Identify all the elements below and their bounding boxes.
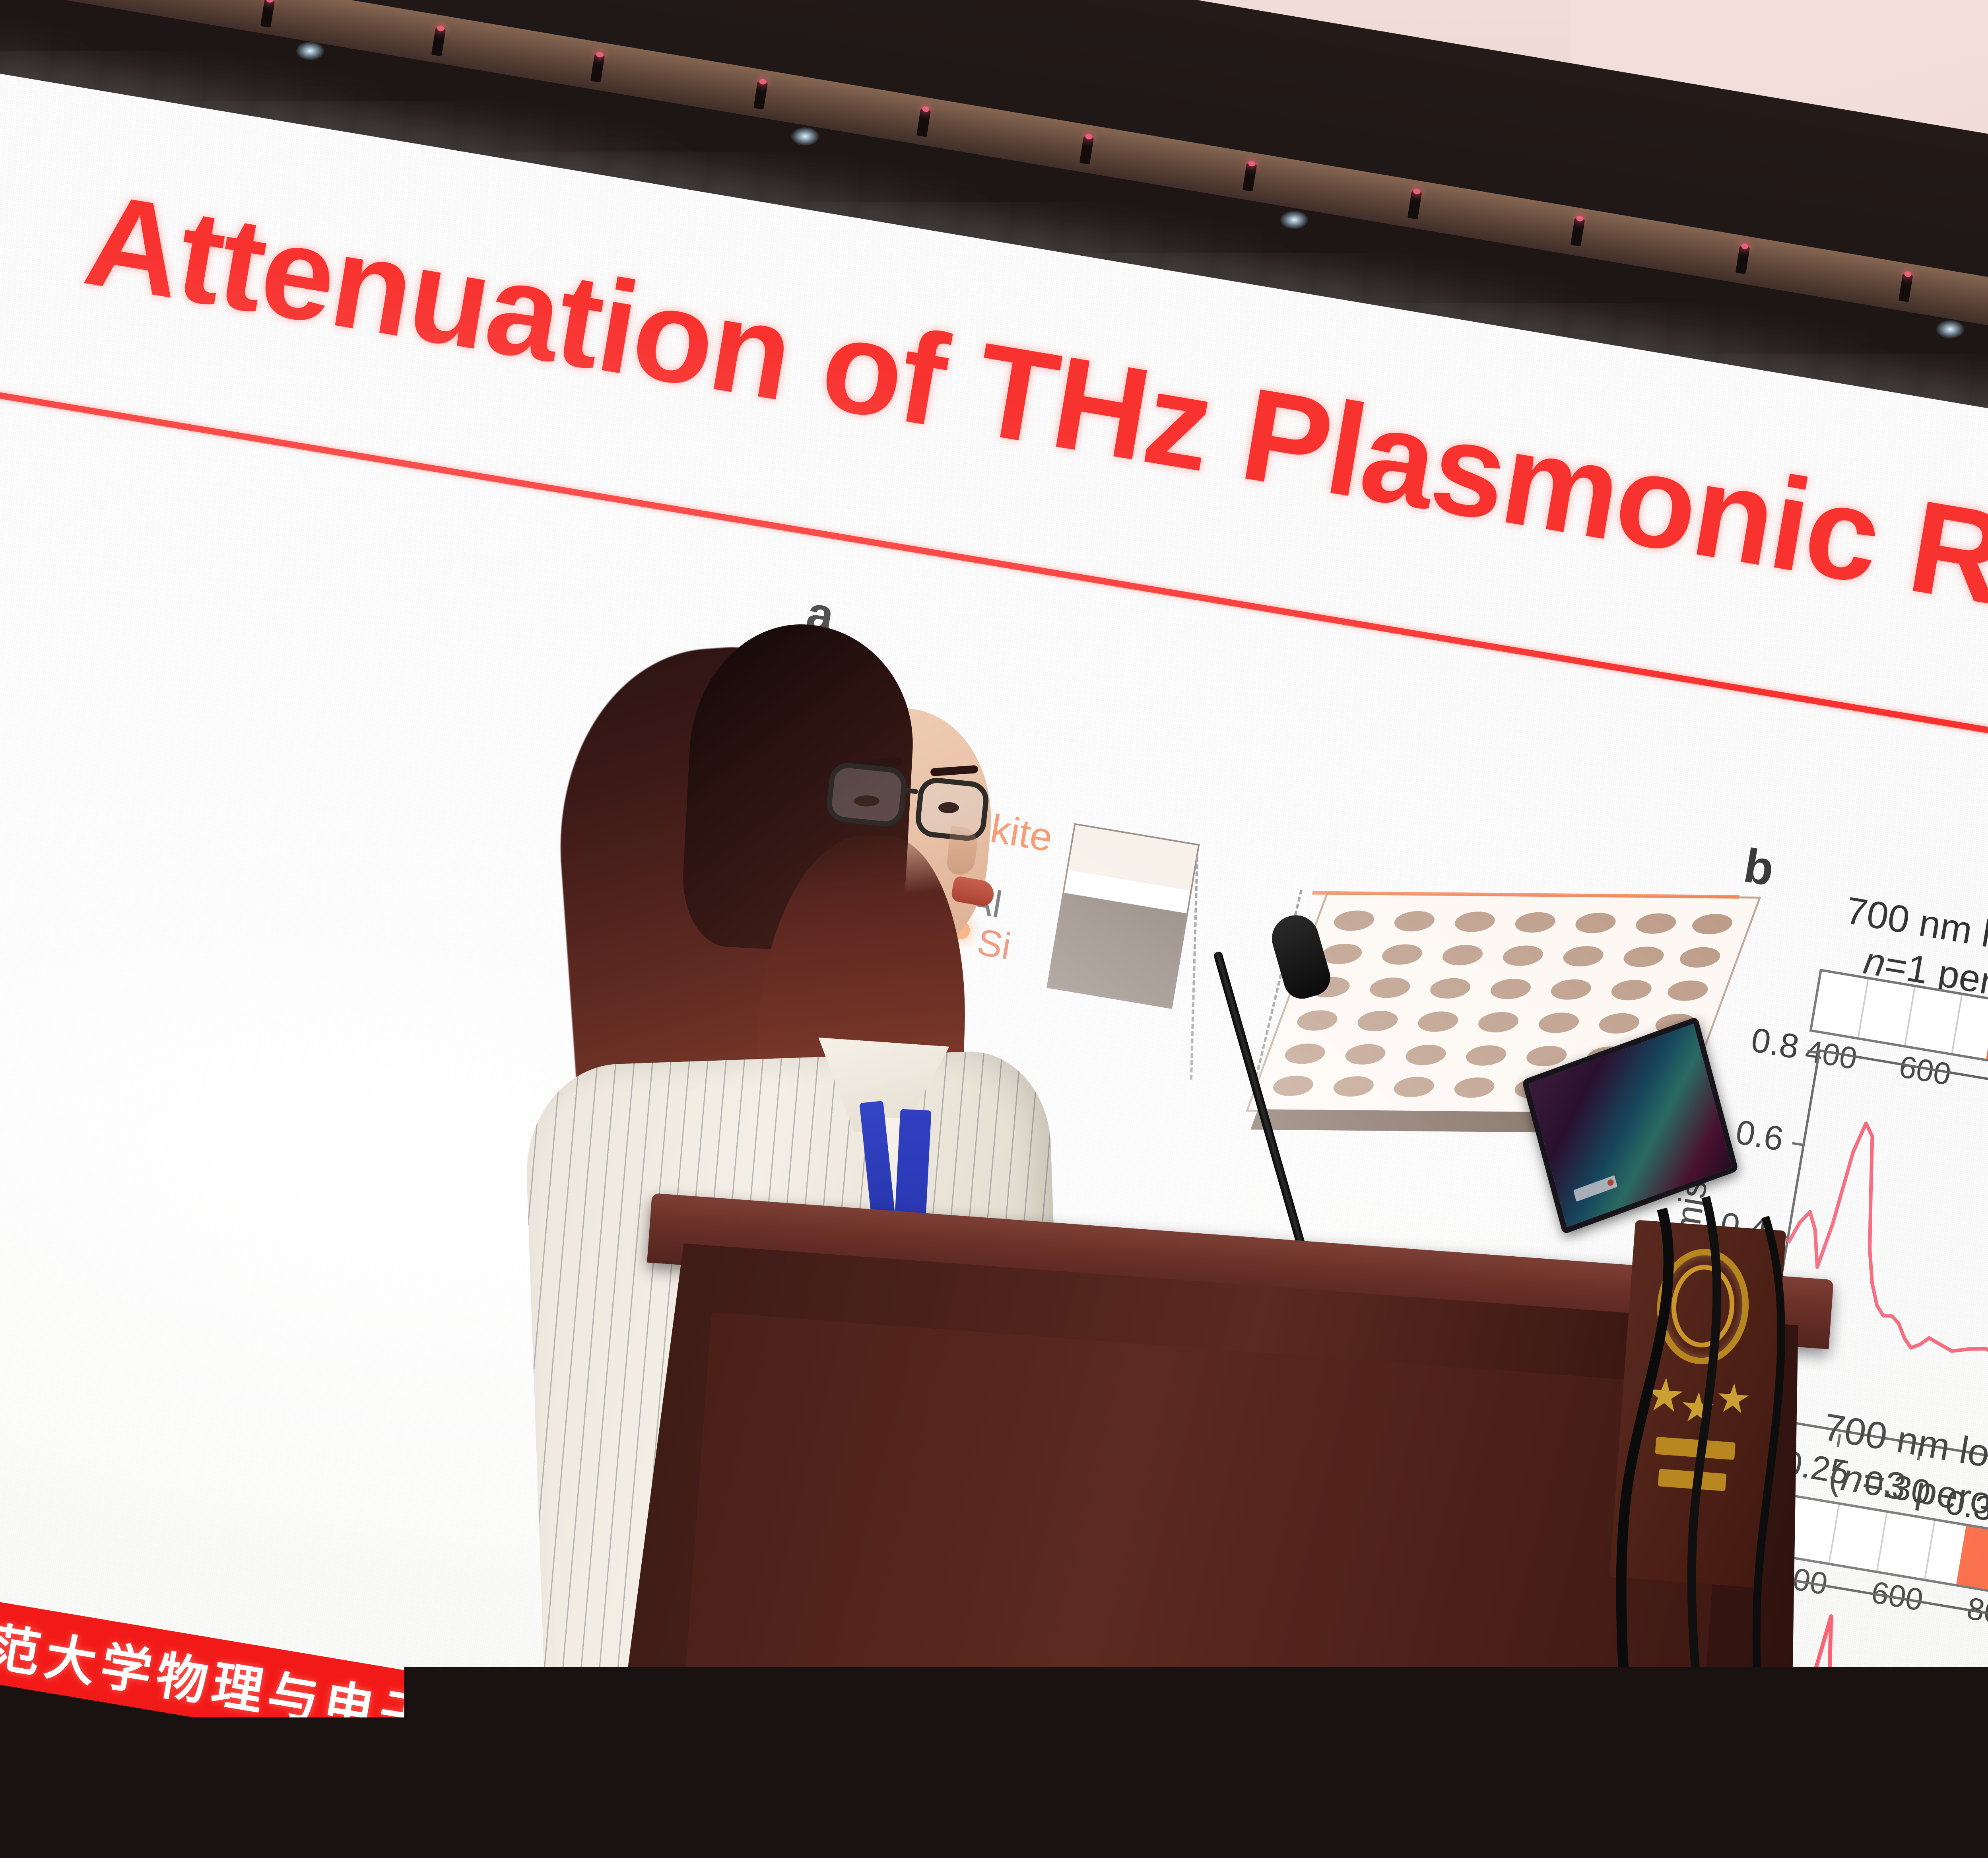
audio-cables [0, 0, 1988, 1858]
conference-photo: Attenuation of THz Plasmonic Resonances … [0, 0, 1988, 1858]
